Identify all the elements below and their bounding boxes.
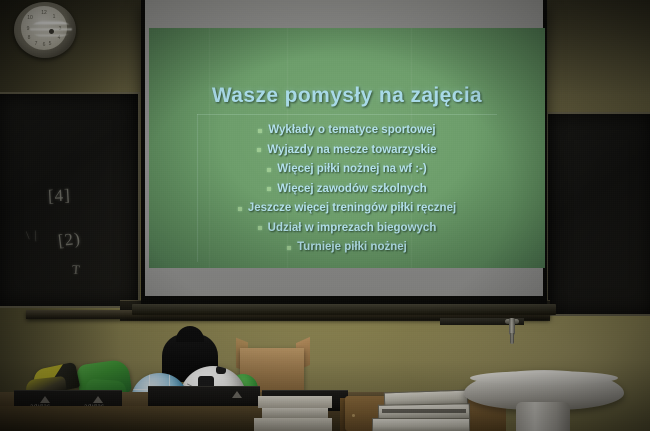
slide-bullet-text: Wykłady o tematyce sportowej bbox=[268, 125, 435, 137]
slide-bullet-item: Wyjazdy na mecze towarzyskie bbox=[149, 141, 545, 161]
white-box bbox=[262, 408, 328, 418]
bullet-square-icon bbox=[287, 246, 291, 250]
chalk-mark: [2) bbox=[57, 229, 82, 252]
slide-bullet-text: Jeszcze więcej treningów piłki ręcznej bbox=[248, 203, 456, 215]
faucet-icon bbox=[505, 318, 519, 344]
pedestal-sink-column bbox=[516, 402, 570, 431]
pedestal-sink-rim bbox=[470, 371, 618, 385]
stacked-box bbox=[372, 418, 470, 431]
slide-bullet-text: Więcej zawodów szkolnych bbox=[277, 184, 426, 196]
projection-screen-surface: Wasze pomysły na zajęcia Wykłady o temat… bbox=[145, 0, 543, 296]
slide-bullet-text: Więcej piłki nożnej na wf :-) bbox=[277, 164, 426, 176]
bullet-square-icon bbox=[258, 226, 262, 230]
bullet-square-icon bbox=[267, 168, 271, 172]
bullet-square-icon bbox=[267, 187, 271, 191]
chalk-mark: \ | bbox=[26, 228, 39, 244]
chalk-mark: T bbox=[71, 262, 81, 279]
clock-face: 12 3 6 9 1 4 5 7 8 10 bbox=[21, 6, 67, 50]
slide-bullet-text: Turnieje piłki nożnej bbox=[297, 242, 407, 254]
bullet-square-icon bbox=[258, 129, 262, 133]
box-label-strip bbox=[382, 409, 466, 413]
blackboard-right bbox=[546, 112, 650, 316]
svg-text:8: 8 bbox=[28, 35, 31, 41]
white-box bbox=[258, 396, 332, 408]
faucet-spout bbox=[510, 333, 514, 344]
wall-clock-icon: 12 3 6 9 1 4 5 7 8 10 bbox=[14, 2, 76, 58]
adidas-logo-icon bbox=[232, 391, 242, 398]
slide-bullet-item: Turnieje piłki nożnej bbox=[149, 238, 545, 258]
bullet-square-icon bbox=[257, 148, 261, 152]
slide-bullet-item: Wykłady o tematyce sportowej bbox=[149, 121, 545, 141]
presentation-slide: Wasze pomysły na zajęcia Wykłady o temat… bbox=[149, 28, 545, 268]
clock-center-pin bbox=[49, 29, 54, 34]
slide-bullet-list: Wykłady o tematyce sportowej Wyjazdy na … bbox=[149, 121, 545, 258]
svg-text:10: 10 bbox=[27, 15, 33, 21]
adidas-logo-icon bbox=[40, 396, 50, 403]
slide-bullet-text: Udział w imprezach biegowych bbox=[268, 223, 437, 235]
slide-bullet-item: Jeszcze więcej treningów piłki ręcznej bbox=[149, 199, 545, 219]
bullet-square-icon bbox=[238, 207, 242, 211]
svg-text:7: 7 bbox=[35, 41, 38, 47]
slide-title: Wasze pomysły na zajęcia bbox=[149, 84, 545, 108]
svg-text:5: 5 bbox=[49, 41, 52, 47]
projection-screen: Wasze pomysły na zajęcia Wykłady o temat… bbox=[141, 0, 547, 305]
slide-bullet-item: Więcej piłki nożnej na wf :-) bbox=[149, 160, 545, 180]
classroom-photo: 12 3 6 9 1 4 5 7 8 10 [4] bbox=[0, 0, 650, 431]
svg-text:12: 12 bbox=[41, 10, 47, 16]
slide-divider bbox=[197, 114, 497, 115]
slide-bullet-text: Wyjazdy na mecze towarzyskie bbox=[267, 145, 436, 157]
chair-screw bbox=[352, 414, 355, 417]
white-box bbox=[254, 418, 332, 431]
adidas-logo-icon bbox=[93, 396, 103, 403]
slide-bullet-item: Udział w imprezach biegowych bbox=[149, 219, 545, 239]
chalk-mark: [4] bbox=[47, 185, 71, 206]
svg-text:6: 6 bbox=[43, 42, 46, 48]
slide-bullet-item: Więcej zawodów szkolnych bbox=[149, 180, 545, 200]
projection-screen-bottom-bar bbox=[132, 304, 556, 315]
